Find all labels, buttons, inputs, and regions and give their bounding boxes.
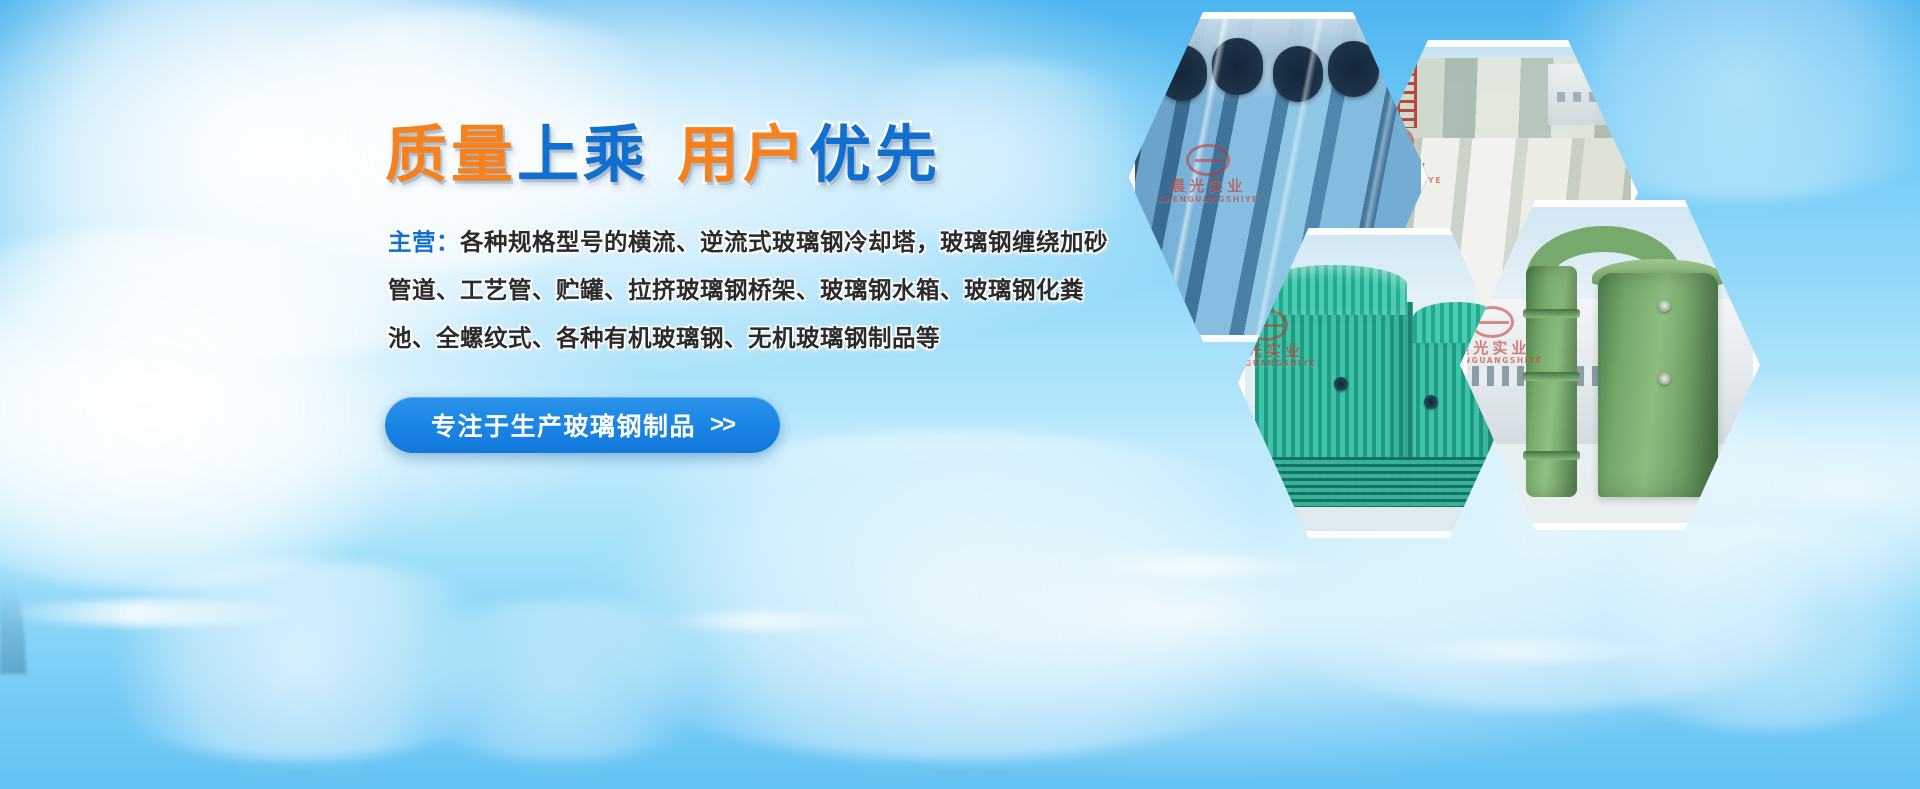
duct-elbow-bottom <box>1520 471 1610 524</box>
duct-band <box>1523 451 1580 460</box>
cta-button[interactable]: 专注于生产玻璃钢制品 >> <box>385 397 780 453</box>
description-body: 各种规格型号的横流、逆流式玻璃钢冷却塔，玻璃钢缠绕加砂管道、工艺管、贮罐、拉挤玻… <box>388 228 1108 352</box>
headline-segment-3: 用户 <box>677 118 809 191</box>
vessel-port <box>1658 372 1671 385</box>
banner-copy: 质量上乘用户优先 主营：各种规格型号的横流、逆流式玻璃钢冷却塔，玻璃钢缠绕加砂管… <box>0 0 1120 789</box>
hero-banner: 质量上乘用户优先 主营：各种规格型号的横流、逆流式玻璃钢冷却塔，玻璃钢缠绕加砂管… <box>0 0 1920 789</box>
description-lead-label: 主营： <box>388 228 460 256</box>
vessel-port <box>1658 299 1671 312</box>
tower-louvers <box>1255 457 1503 507</box>
double-chevron-right-icon: >> <box>710 411 734 439</box>
tower-nozzle <box>1334 377 1348 391</box>
vertical-duct <box>1526 266 1577 497</box>
cta-label: 专注于生产玻璃钢制品 <box>431 407 696 443</box>
headline-segment-1: 质量 <box>385 118 517 191</box>
banner-headline: 质量上乘用户优先 <box>385 124 941 186</box>
duct-band <box>1523 372 1580 381</box>
duct-band <box>1523 309 1580 318</box>
cloud-wisp <box>1380 640 1680 662</box>
headline-segment-4: 优先 <box>809 118 941 191</box>
factory-building <box>1548 64 1632 125</box>
banner-description: 主营：各种规格型号的横流、逆流式玻璃钢冷却塔，玻璃钢缠绕加砂管道、工艺管、贮罐、… <box>388 218 1118 362</box>
headline-segment-2: 上乘 <box>517 118 649 191</box>
product-hex-collage: 晨光实业 CHENGUANGSHIYE 晨光实业 CHENGUANGSHIYE <box>1110 0 1920 560</box>
